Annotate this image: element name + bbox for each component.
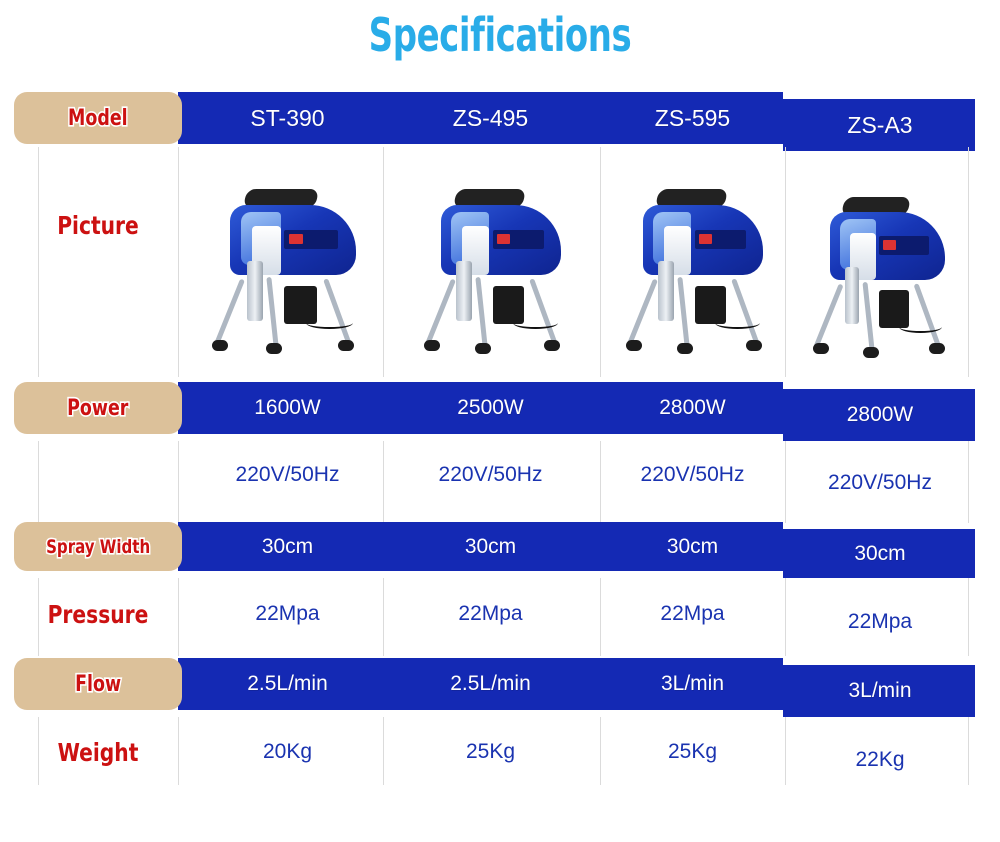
divider	[600, 147, 601, 377]
specifications-page: Specifications Model ST-390 ZS-495 ZS-59…	[0, 0, 1000, 842]
divider	[785, 717, 786, 785]
cell-weight-zs595: 25Kg	[600, 728, 785, 776]
divider	[38, 147, 39, 377]
cell-flow-zsa3: 3L/min	[790, 665, 970, 717]
cell-spray-width-zsa3: 30cm	[790, 529, 970, 578]
product-image-zsa3	[800, 185, 965, 355]
cell-pressure-st390: 22Mpa	[190, 590, 385, 638]
row-label-power: Power	[14, 382, 182, 434]
divider	[178, 441, 179, 523]
cell-power-zs595: 2800W	[600, 382, 785, 434]
cell-power-st390: 1600W	[190, 382, 385, 434]
row-label-model: Model	[14, 92, 182, 144]
cell-flow-zs495: 2.5L/min	[388, 658, 593, 710]
cell-model-zs595: ZS-595	[600, 92, 785, 144]
product-image-st390	[198, 177, 378, 352]
row-label-picture: Picture	[22, 200, 173, 250]
cell-power-zsa3: 2800W	[790, 389, 970, 441]
divider	[178, 717, 179, 785]
cell-pressure-zs595: 22Mpa	[600, 590, 785, 638]
cell-model-zs495: ZS-495	[388, 92, 593, 144]
row-label-weight: Weight	[22, 728, 173, 776]
cell-weight-zs495: 25Kg	[388, 728, 593, 776]
divider	[383, 147, 384, 377]
product-image-zs495	[410, 177, 582, 352]
divider	[785, 441, 786, 523]
cell-flow-st390: 2.5L/min	[190, 658, 385, 710]
cell-voltage-zsa3: 220V/50Hz	[790, 463, 970, 503]
cell-weight-st390: 20Kg	[190, 728, 385, 776]
divider	[38, 441, 39, 523]
product-image-zs595	[612, 177, 784, 352]
cell-model-zsa3: ZS-A3	[790, 99, 970, 151]
cell-weight-zsa3: 22Kg	[790, 736, 970, 784]
specifications-table: Model ST-390 ZS-495 ZS-595 ZS-A3 Picture	[0, 85, 1000, 785]
cell-voltage-zs495: 220V/50Hz	[388, 455, 593, 495]
cell-spray-width-st390: 30cm	[190, 522, 385, 571]
cell-voltage-zs595: 220V/50Hz	[600, 455, 785, 495]
cell-voltage-st390: 220V/50Hz	[190, 455, 385, 495]
row-label-spray-width: Spray Width	[14, 522, 182, 571]
cell-pressure-zsa3: 22Mpa	[790, 598, 970, 646]
divider	[178, 578, 179, 656]
divider	[785, 578, 786, 656]
cell-pressure-zs495: 22Mpa	[388, 590, 593, 638]
page-title: Specifications	[90, 8, 910, 62]
cell-spray-width-zs495: 30cm	[388, 522, 593, 571]
cell-flow-zs595: 3L/min	[600, 658, 785, 710]
divider	[968, 147, 969, 377]
cell-spray-width-zs595: 30cm	[600, 522, 785, 571]
divider	[178, 147, 179, 377]
cell-model-st390: ST-390	[190, 92, 385, 144]
cell-power-zs495: 2500W	[388, 382, 593, 434]
divider	[785, 147, 786, 377]
row-label-pressure: Pressure	[22, 590, 173, 638]
row-label-flow: Flow	[14, 658, 182, 710]
